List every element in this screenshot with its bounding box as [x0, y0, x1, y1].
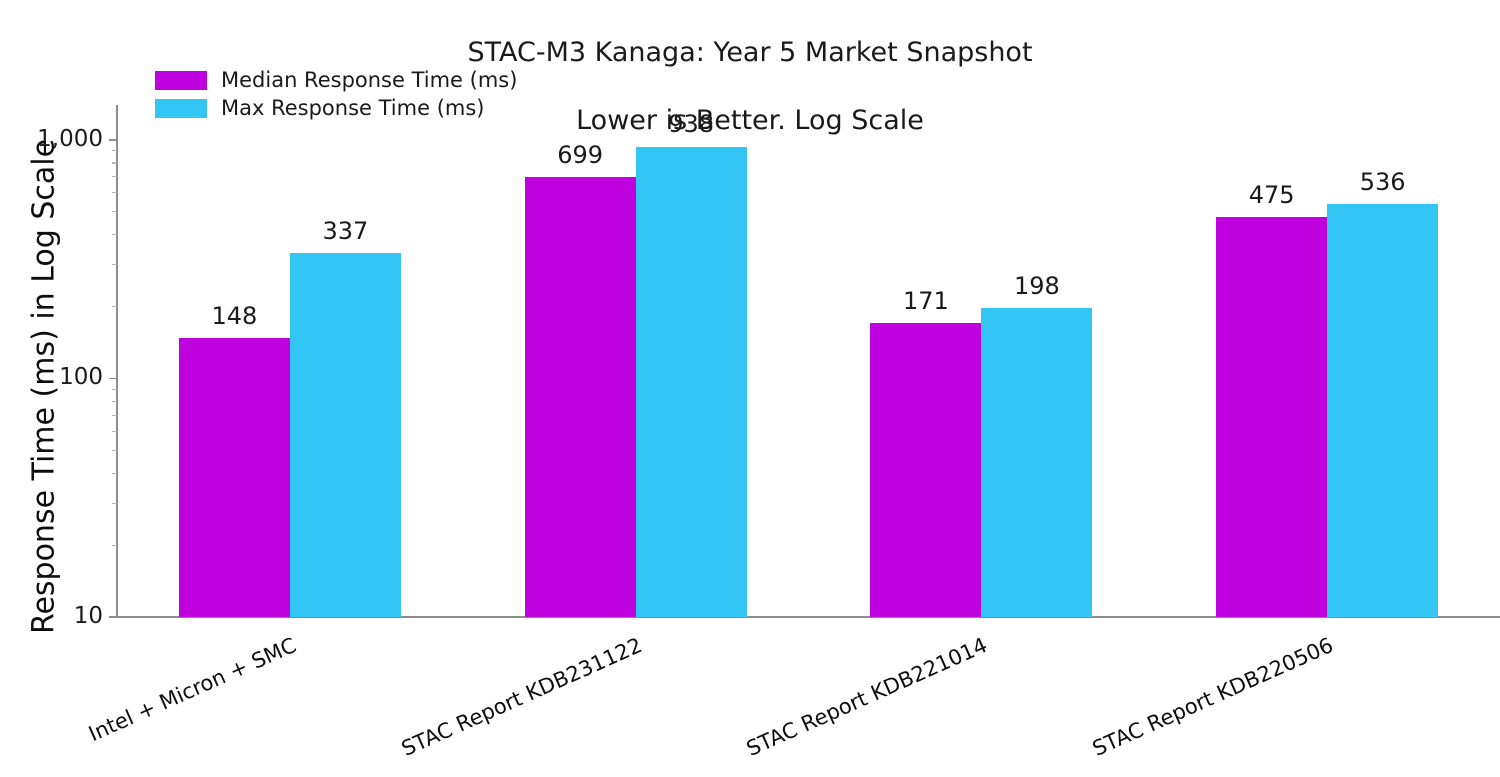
legend-label-max: Max Response Time (ms) [221, 96, 484, 120]
chart-figure: STAC-M3 Kanaga: Year 5 Market Snapshot L… [0, 0, 1500, 767]
x-axis-tick-label: STAC Report KDB221014 [707, 633, 991, 777]
legend-label-median: Median Response Time (ms) [221, 68, 517, 92]
bar-value-label: 699 [500, 141, 661, 169]
x-axis-tick-label: STAC Report KDB231122 [362, 633, 646, 777]
y-axis-tick-mark [109, 616, 117, 617]
y-axis-tick-label: 1,000 [0, 126, 103, 152]
bar-value-label: 337 [265, 217, 426, 245]
y-axis-tick-mark [109, 139, 117, 140]
bar-value-label: 198 [956, 272, 1117, 300]
bar-median[interactable] [179, 338, 290, 617]
legend-swatch-median-icon [155, 71, 207, 90]
x-axis-tick-label: STAC Report KDB220506 [1053, 633, 1337, 777]
bar-median[interactable] [525, 177, 636, 617]
legend-swatch-max-icon [155, 99, 207, 118]
bar-median[interactable] [1216, 217, 1327, 617]
legend-item-max[interactable]: Max Response Time (ms) [155, 94, 555, 122]
y-axis-tick-mark [109, 378, 117, 379]
bar-value-label: 536 [1302, 168, 1463, 196]
legend-item-median[interactable]: Median Response Time (ms) [155, 66, 555, 94]
bar-median[interactable] [870, 323, 981, 617]
bar-max[interactable] [636, 147, 747, 618]
bar-max[interactable] [1327, 204, 1438, 617]
bar-value-label: 938 [611, 110, 772, 138]
chart-legend: Median Response Time (ms) Max Response T… [155, 66, 555, 122]
y-axis-tick-label: 100 [0, 364, 103, 390]
bar-value-label: 148 [154, 302, 315, 330]
bar-max[interactable] [981, 308, 1092, 617]
y-axis-tick-label: 10 [0, 603, 103, 629]
chart-title-line-1: STAC-M3 Kanaga: Year 5 Market Snapshot [0, 36, 1500, 70]
